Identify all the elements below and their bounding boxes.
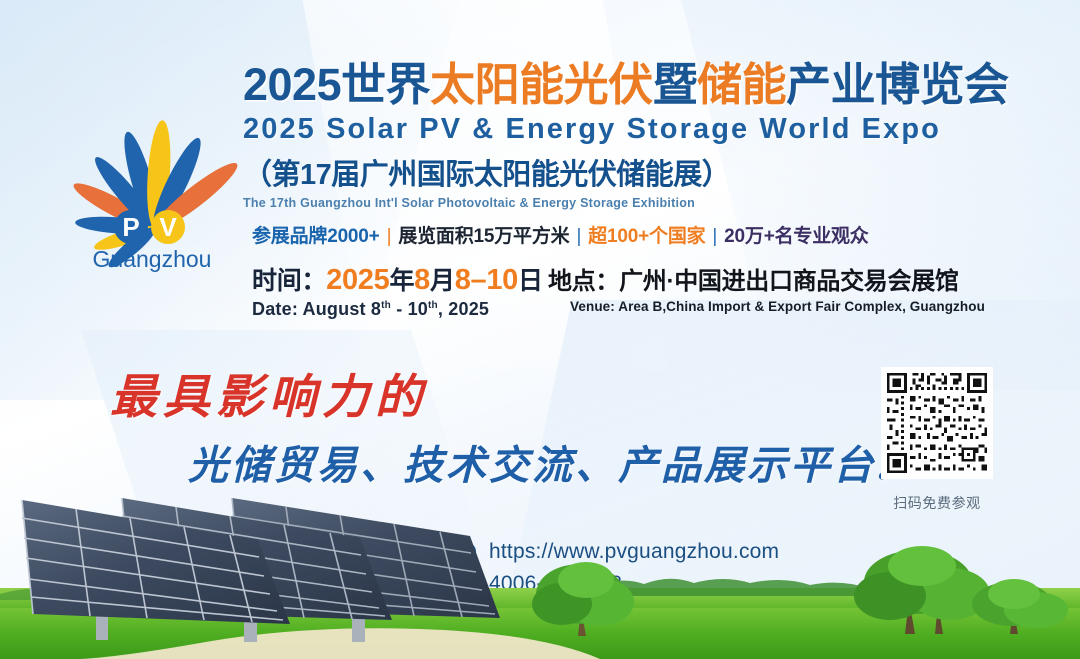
pv-guangzhou-logo: P V Guangzhou (52, 100, 257, 280)
main-title-cn: 2025世界太阳能光伏暨储能产业博览会 (243, 62, 1043, 109)
slogan-line-1: 最具影响力的 (110, 358, 897, 427)
date-label: 时间： (252, 267, 326, 295)
expo-promo-banner: P V Guangzhou 2025世界太阳能光伏暨储能产业博览会 2025 S… (0, 0, 1080, 659)
title-segment: 太阳能光伏 (430, 59, 653, 110)
date-en-suffix: , 2025 (438, 299, 489, 319)
stat-brands: 参展品牌2000+ (252, 226, 380, 247)
date-year-unit: 年 (389, 267, 414, 295)
stat-countries: 超100+个国家 (588, 226, 705, 247)
date-en-prefix: Date: August 8 (252, 299, 381, 319)
venue-name-cn: 广州·中国进出口商品交易会展馆 (619, 268, 959, 295)
date-block: 时间：2025年8月8–10日 Date: August 8th - 10th,… (252, 261, 543, 320)
date-en-mid: - 10 (391, 299, 428, 319)
date-month: 8 (414, 264, 430, 296)
title-segment: 储能 (697, 59, 786, 110)
stat-separator: | (705, 226, 724, 247)
subtitle-cn: （第17届广州国际太阳能光伏储能展） (243, 151, 1043, 193)
stat-area: 展览面积15万平方米 (398, 226, 569, 247)
date-cn: 时间：2025年8月8–10日 (252, 261, 543, 297)
logo-wordmark: Guangzhou (93, 246, 212, 272)
stat-separator: | (380, 226, 399, 247)
venue-en: Venue: Area B,China Import & Export Fair… (570, 299, 985, 314)
venue-label: 地点： (548, 268, 619, 295)
date-year: 2025 (326, 264, 389, 296)
subtitle-en: The 17th Guangzhou Int'l Solar Photovolt… (243, 196, 1043, 210)
title-segment: 2025世界 (243, 59, 430, 110)
main-title-en: 2025 Solar PV & Energy Storage World Exp… (243, 113, 1043, 146)
date-day-unit: 日 (518, 267, 543, 295)
date-en-sup: th (428, 300, 438, 311)
date-month-unit: 月 (430, 267, 455, 295)
date-en: Date: August 8th - 10th, 2025 (252, 299, 543, 320)
date-en-sup: th (381, 300, 391, 311)
scenery-illustration (0, 484, 1080, 659)
stat-visitors: 20万+名专业观众 (724, 226, 868, 247)
logo-letter-v: V (159, 212, 177, 242)
venue-block: 地点：广州·中国进出口商品交易会展馆 Venue: Area B,China I… (548, 261, 985, 314)
logo-letter-p: P (122, 212, 139, 242)
stat-separator: | (569, 226, 588, 247)
qr-code-image[interactable] (881, 367, 993, 479)
stats-line: 参展品牌2000+|展览面积15万平方米|超100+个国家|20万+名专业观众 (252, 221, 869, 248)
venue-cn: 地点：广州·中国进出口商品交易会展馆 (548, 261, 985, 296)
date-days: 8–10 (455, 264, 518, 296)
slogan-block: 最具影响力的 光储贸易、技术交流、产品展示平台! (110, 358, 897, 491)
slogan-line-2: 光储贸易、技术交流、产品展示平台! (188, 433, 897, 491)
headline-block: 2025世界太阳能光伏暨储能产业博览会 2025 Solar PV & Ener… (243, 62, 1043, 210)
title-segment: 暨 (653, 59, 698, 110)
title-segment: 产业博览会 (786, 59, 1009, 110)
